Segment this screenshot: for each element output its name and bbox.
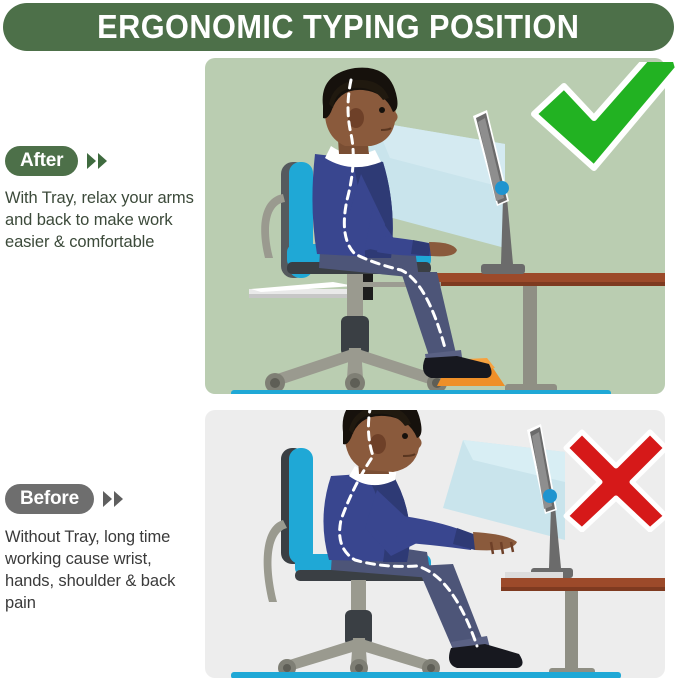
double-chevron-right-icon — [87, 153, 107, 169]
infographic-page: ERGONOMIC TYPING POSITION After With Tra… — [0, 0, 679, 678]
check-mark-icon — [528, 62, 676, 174]
before-badge: Before — [5, 484, 94, 514]
page-title-banner: ERGONOMIC TYPING POSITION — [3, 3, 674, 51]
before-description: Without Tray, long time working cause wr… — [5, 527, 201, 615]
cross-mark-icon — [562, 428, 670, 532]
after-badge: After — [5, 146, 78, 176]
after-label-row: After — [5, 146, 107, 176]
before-label-row: Before — [5, 484, 123, 514]
double-chevron-right-icon — [103, 491, 123, 507]
page-title: ERGONOMIC TYPING POSITION — [97, 8, 579, 46]
after-description: With Tray, relax your arms and back to m… — [5, 188, 201, 254]
